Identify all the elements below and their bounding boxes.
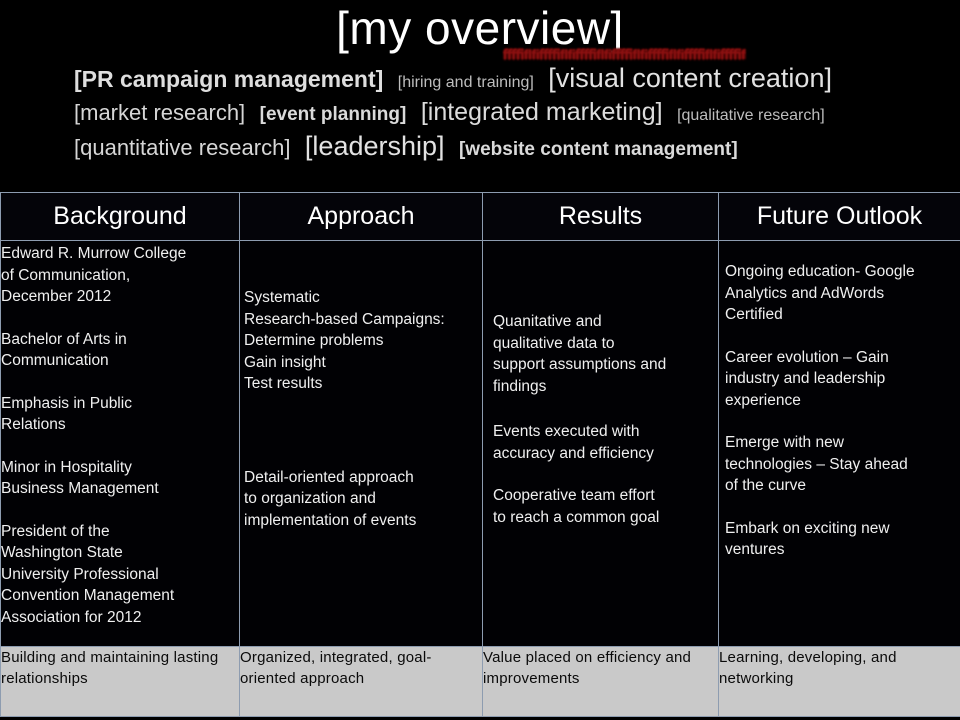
content-line: Convention Management: [1, 585, 239, 607]
skill-tag-qualitative-research: [qualitative research]: [677, 100, 825, 132]
content-line: President of the: [1, 521, 239, 543]
content-line: to reach a common goal: [493, 507, 718, 529]
cell-approach: SystematicResearch-based Campaigns:Deter…: [240, 241, 483, 647]
content-line: Association for 2012: [1, 607, 239, 629]
content-paragraph: Edward R. Murrow Collegeof Communication…: [1, 243, 239, 308]
content-line: accuracy and efficiency: [493, 443, 718, 465]
content-line: Edward R. Murrow College: [1, 243, 239, 265]
skill-tag-pr-campaign-management: [PR campaign management]: [74, 63, 383, 95]
page-title: [my overview]: [0, 0, 960, 54]
skill-row-1: [PR campaign management] [hiring and tra…: [74, 62, 898, 94]
content-line: Research-based Campaigns:: [244, 309, 482, 331]
skill-tag-event-planning: [event planning]: [260, 99, 407, 131]
content-line: Emphasis in Public: [1, 393, 239, 415]
content-line: Test results: [244, 373, 482, 395]
redacted-subtitle: ﬀﬃﬂﬁﬀﬃﬂﬁﬀﬃﬂﬁﬀﬃﬂﬁﬀﬃﬂﬁﬀﬃﬂﬁﬀﬃﬂﬁﬀﬃﬂﬁﬀﬃﬂﬁﬀﬃ: [503, 48, 746, 62]
content-line: to organization and: [244, 488, 482, 510]
content-line: Business Management: [1, 478, 239, 500]
content-paragraph: President of theWashington StateUniversi…: [1, 521, 239, 629]
skill-row-3: [quantitative research] [leadership] [we…: [74, 130, 898, 162]
content-line: Relations: [1, 414, 239, 436]
content-line: Embark on exciting new: [725, 518, 960, 540]
column-header-approach: Approach: [240, 193, 483, 241]
cell-background: Edward R. Murrow Collegeof Communication…: [1, 241, 240, 647]
table-header-row: Background Approach Results Future Outlo…: [1, 193, 960, 241]
content-paragraph: Detail-oriented approachto organization …: [244, 467, 482, 532]
content-line: Washington State: [1, 542, 239, 564]
content-line: December 2012: [1, 286, 239, 308]
content-line: technologies – Stay ahead: [725, 454, 960, 476]
summary-background: Building and maintaining lasting relatio…: [1, 647, 240, 717]
skill-tag-cloud: [PR campaign management] [hiring and tra…: [74, 54, 898, 168]
content-line: Certified: [725, 304, 960, 326]
content-line: Events executed with: [493, 421, 718, 443]
content-line: of the curve: [725, 475, 960, 497]
skill-tag-leadership: [leadership]: [305, 130, 445, 162]
skill-row-2: [market research] [event planning] [inte…: [74, 96, 898, 128]
column-header-background: Background: [1, 193, 240, 241]
content-line: ventures: [725, 539, 960, 561]
column-header-future-outlook: Future Outlook: [719, 193, 960, 241]
content-line: Emerge with new: [725, 432, 960, 454]
content-paragraph: Bachelor of Arts inCommunication: [1, 329, 239, 372]
background-content: Edward R. Murrow Collegeof Communication…: [1, 241, 239, 628]
content-paragraph: Ongoing education- GoogleAnalytics and A…: [725, 261, 960, 326]
content-line: Cooperative team effort: [493, 485, 718, 507]
content-paragraph: Emerge with newtechnologies – Stay ahead…: [725, 432, 960, 497]
content-line: Gain insight: [244, 352, 482, 374]
summary-results: Value placed on efficiency and improveme…: [483, 647, 719, 717]
skill-tag-hiring-and-training: [hiring and training]: [398, 67, 534, 99]
skill-tag-integrated-marketing: [integrated marketing]: [421, 96, 663, 128]
content-paragraph: Quanitative andqualitative data tosuppor…: [493, 311, 718, 397]
summary-approach: Organized, integrated, goal-oriented app…: [240, 647, 483, 717]
content-line: Analytics and AdWords: [725, 283, 960, 305]
content-line: Determine problems: [244, 330, 482, 352]
content-line: Communication: [1, 350, 239, 372]
content-line: Detail-oriented approach: [244, 467, 482, 489]
skill-tag-market-research: [market research]: [74, 97, 245, 129]
content-line: Career evolution – Gain: [725, 347, 960, 369]
table-summary-row: Building and maintaining lasting relatio…: [1, 647, 960, 717]
content-line: implementation of events: [244, 510, 482, 532]
content-paragraph: Embark on exciting newventures: [725, 518, 960, 561]
skill-tag-quantitative-research: [quantitative research]: [74, 132, 290, 164]
column-header-results: Results: [483, 193, 719, 241]
content-paragraph: Minor in HospitalityBusiness Management: [1, 457, 239, 500]
cell-future-outlook: Ongoing education- GoogleAnalytics and A…: [719, 241, 960, 647]
content-paragraph: Emphasis in PublicRelations: [1, 393, 239, 436]
results-content: Quanitative andqualitative data tosuppor…: [483, 241, 718, 528]
content-paragraph: Career evolution – Gainindustry and lead…: [725, 347, 960, 412]
content-line: of Communication,: [1, 265, 239, 287]
content-line: Bachelor of Arts in: [1, 329, 239, 351]
content-line: Quanitative and: [493, 311, 718, 333]
content-line: support assumptions and: [493, 354, 718, 376]
content-line: Minor in Hospitality: [1, 457, 239, 479]
content-line: experience: [725, 390, 960, 412]
content-line: Systematic: [244, 287, 482, 309]
content-paragraph: Events executed withaccuracy and efficie…: [493, 421, 718, 464]
content-line: University Professional: [1, 564, 239, 586]
content-paragraph: Cooperative team effortto reach a common…: [493, 485, 718, 528]
content-line: findings: [493, 376, 718, 398]
summary-future-outlook: Learning, developing, and networking: [719, 647, 960, 717]
table-body-row: Edward R. Murrow Collegeof Communication…: [1, 241, 960, 647]
content-paragraph: SystematicResearch-based Campaigns:Deter…: [244, 287, 482, 395]
overview-table: Background Approach Results Future Outlo…: [0, 192, 960, 717]
content-line: Ongoing education- Google: [725, 261, 960, 283]
skill-tag-visual-content-creation: [visual content creation]: [548, 62, 832, 94]
cell-results: Quanitative andqualitative data tosuppor…: [483, 241, 719, 647]
approach-content: SystematicResearch-based Campaigns:Deter…: [240, 241, 482, 531]
content-line: industry and leadership: [725, 368, 960, 390]
future-outlook-content: Ongoing education- GoogleAnalytics and A…: [719, 241, 960, 561]
skill-tag-website-content-management: [website content management]: [459, 134, 738, 166]
content-line: qualitative data to: [493, 333, 718, 355]
